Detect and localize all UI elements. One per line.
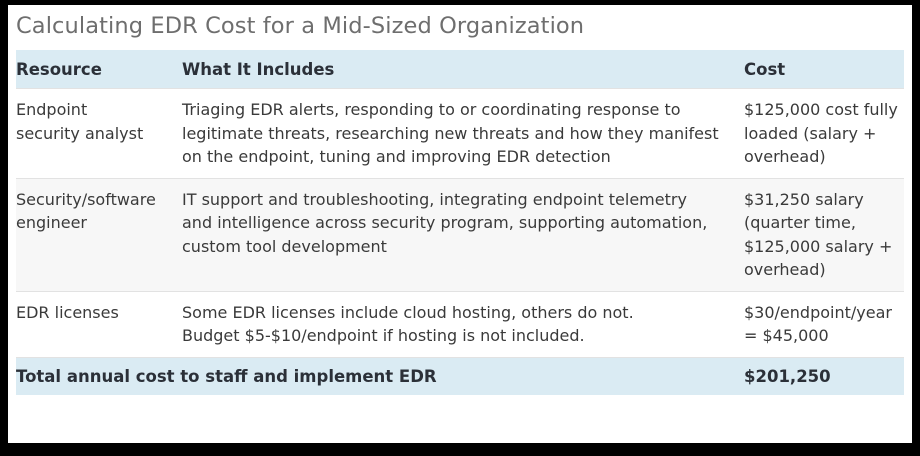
resource-line: EDR licenses xyxy=(16,301,174,325)
cost-line: overhead) xyxy=(744,258,904,282)
cost-line: (quarter time, xyxy=(744,211,904,235)
cost-line: $125,000 cost fully xyxy=(744,98,904,122)
total-value: $201,250 xyxy=(744,367,904,386)
includes-line: and intelligence across security program… xyxy=(182,211,734,235)
includes-line: Triaging EDR alerts, responding to or co… xyxy=(182,98,734,122)
includes-line: custom tool development xyxy=(182,235,734,259)
table-total-row: Total annual cost to staff and implement… xyxy=(16,357,904,395)
resource-line: Security/software xyxy=(16,188,174,212)
column-header-what-it-includes: What It Includes xyxy=(182,59,744,79)
table-header-row: Resource What It Includes Cost xyxy=(16,50,904,88)
cell-cost: $31,250 salary (quarter time, $125,000 s… xyxy=(744,188,904,282)
cell-cost: $125,000 cost fully loaded (salary + ove… xyxy=(744,98,904,169)
cell-resource: Security/software engineer xyxy=(16,188,182,282)
includes-line: IT support and troubleshooting, integrat… xyxy=(182,188,734,212)
cost-line: $30/endpoint/year xyxy=(744,301,904,325)
includes-line: legitimate threats, researching new thre… xyxy=(182,122,734,146)
edr-cost-table: Resource What It Includes Cost Endpoint … xyxy=(16,50,904,395)
cell-what-it-includes: Some EDR licenses include cloud hosting,… xyxy=(182,301,744,348)
includes-line: Budget $5-$10/endpoint if hosting is not… xyxy=(182,324,734,348)
cost-line: $125,000 salary + xyxy=(744,235,904,259)
cell-what-it-includes: IT support and troubleshooting, integrat… xyxy=(182,188,744,282)
cost-line: $31,250 salary xyxy=(744,188,904,212)
screenshot-frame: Calculating EDR Cost for a Mid-Sized Org… xyxy=(0,0,920,456)
cell-resource: Endpoint security analyst xyxy=(16,98,182,169)
cell-resource: EDR licenses xyxy=(16,301,182,348)
page-title: Calculating EDR Cost for a Mid-Sized Org… xyxy=(16,7,896,45)
total-label: Total annual cost to staff and implement… xyxy=(16,367,744,386)
resource-line: security analyst xyxy=(16,122,174,146)
cost-line: = $45,000 xyxy=(744,324,904,348)
cost-line: loaded (salary + xyxy=(744,122,904,146)
table-row: Security/software engineer IT support an… xyxy=(16,178,904,291)
column-header-resource: Resource xyxy=(16,59,182,79)
table-row: Endpoint security analyst Triaging EDR a… xyxy=(16,88,904,178)
includes-line: on the endpoint, tuning and improving ED… xyxy=(182,145,734,169)
includes-line: Some EDR licenses include cloud hosting,… xyxy=(182,301,734,325)
column-header-cost: Cost xyxy=(744,59,904,79)
cell-cost: $30/endpoint/year = $45,000 xyxy=(744,301,904,348)
resource-line: Endpoint xyxy=(16,98,174,122)
cell-what-it-includes: Triaging EDR alerts, responding to or co… xyxy=(182,98,744,169)
table-card: Calculating EDR Cost for a Mid-Sized Org… xyxy=(8,5,912,443)
resource-line: engineer xyxy=(16,211,174,235)
table-row: EDR licenses Some EDR licenses include c… xyxy=(16,291,904,357)
cost-line: overhead) xyxy=(744,145,904,169)
